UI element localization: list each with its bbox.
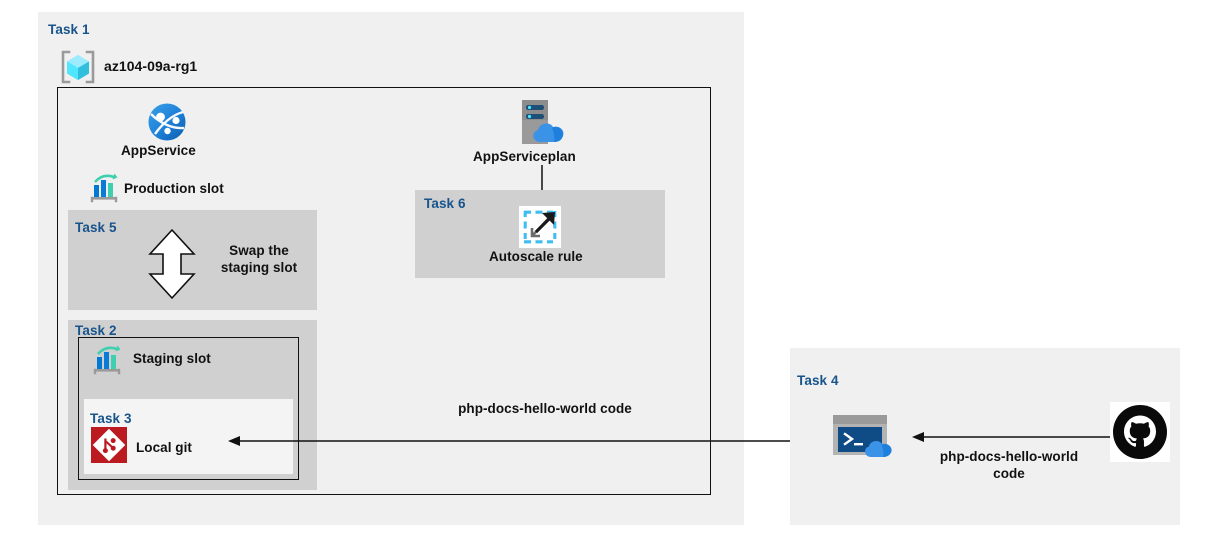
task-4-label: Task 4 [797, 373, 839, 388]
cloudshell-to-localgit-connector-label: php-docs-hello-world code [455, 401, 635, 418]
swap-staging-slot-label: Swap the staging slot [204, 243, 314, 277]
swap-double-arrow-icon [146, 228, 198, 300]
github-to-cloudshell-connector-label: php-docs-hello-world code [928, 449, 1090, 483]
deployment-slot-bars-icon-production [88, 172, 120, 204]
autoscale-arrow-icon [519, 206, 561, 248]
app-service-label: AppService [121, 143, 196, 158]
autoscale-rule-label: Autoscale rule [489, 249, 583, 264]
task-5-label: Task 5 [75, 220, 117, 235]
deployment-slot-bars-icon-staging [91, 344, 123, 376]
app-service-globe-icon [146, 101, 188, 143]
github-octocat-icon [1110, 402, 1170, 462]
staging-slot-label: Staging slot [133, 351, 211, 366]
app-service-plan-label: AppServiceplan [473, 149, 576, 164]
app-service-plan-server-cloud-icon [510, 98, 574, 148]
task-3-label: Task 3 [90, 411, 132, 426]
git-icon [91, 427, 127, 463]
local-git-label: Local git [136, 440, 192, 455]
resource-group-name: az104-09a-rg1 [104, 58, 197, 74]
task-2-label: Task 2 [75, 323, 117, 338]
resource-group-cube-icon [58, 48, 98, 86]
task-6-label: Task 6 [424, 196, 466, 211]
diagram-canvas: Task 1 az104-09a-rg1 [0, 0, 1218, 545]
task-1-label: Task 1 [48, 22, 90, 37]
production-slot-label: Production slot [124, 181, 224, 196]
cloud-shell-icon [831, 412, 901, 462]
